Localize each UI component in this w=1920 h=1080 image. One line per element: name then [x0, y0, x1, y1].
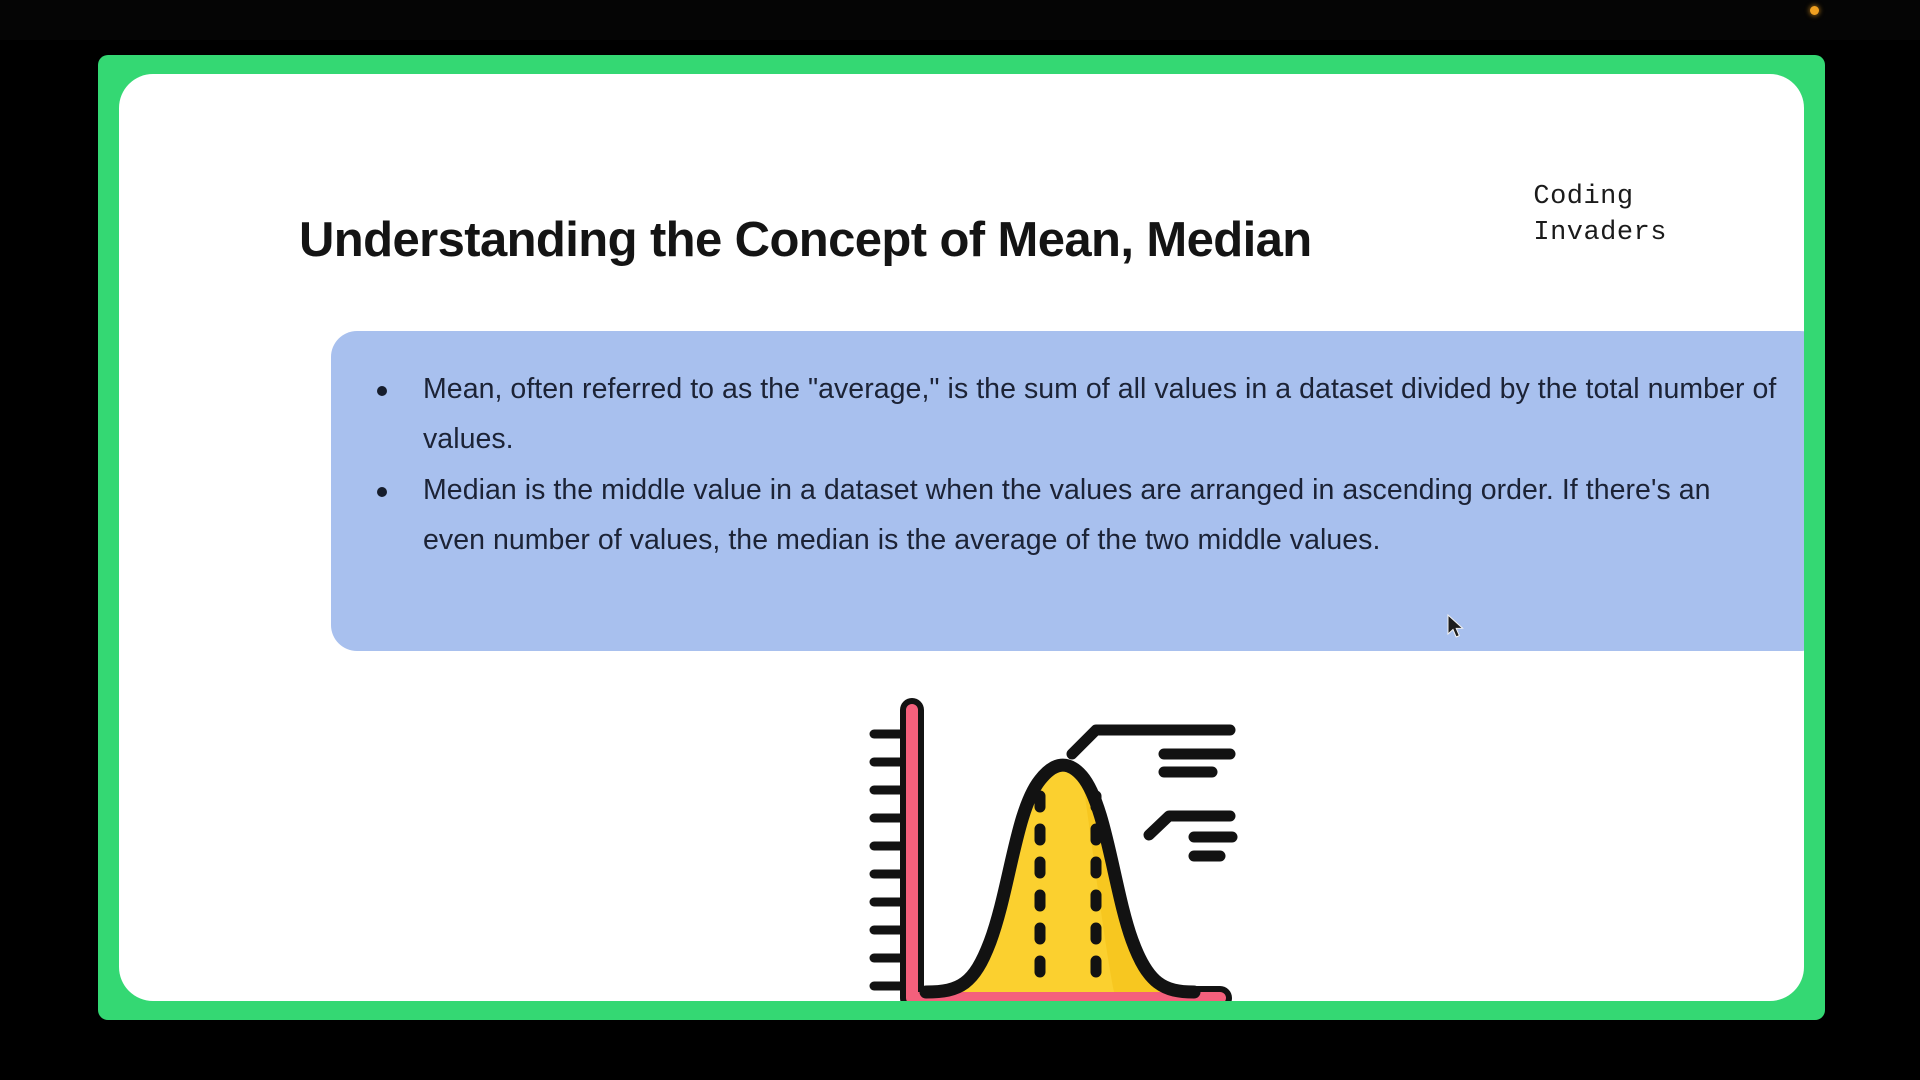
bell-curve-chart-illustration — [864, 692, 1264, 1001]
recording-dot-icon — [1810, 6, 1819, 15]
bell-curve-fill — [926, 765, 1194, 992]
legend-lines-lower — [1149, 816, 1232, 856]
list-item: Median is the middle value in a dataset … — [423, 466, 1780, 565]
window-top-bar — [0, 0, 1920, 40]
legend-lines-upper — [1072, 730, 1230, 772]
content-card: Mean, often referred to as the "average,… — [331, 331, 1804, 651]
bullet-list: Mean, often referred to as the "average,… — [331, 331, 1804, 565]
brand-logo-line-2: Invaders — [1533, 215, 1667, 251]
bullet-lead-term: Mean — [423, 373, 495, 405]
slide-surface: Understanding the Concept of Mean, Media… — [119, 74, 1804, 1001]
bullet-body-text: is the middle value in a dataset when th… — [423, 474, 1711, 556]
screen-root: Understanding the Concept of Mean, Media… — [0, 0, 1920, 1080]
slide-green-frame: Understanding the Concept of Mean, Media… — [98, 55, 1825, 1020]
page-title: Understanding the Concept of Mean, Media… — [299, 212, 1312, 268]
brand-logo-line-1: Coding — [1533, 179, 1667, 215]
bullet-body-text: , often referred to as the "average," is… — [423, 373, 1776, 455]
brand-logo: Coding Invaders — [1533, 179, 1667, 251]
list-item: Mean, often referred to as the "average,… — [423, 365, 1780, 464]
bullet-lead-term: Median — [423, 474, 517, 506]
